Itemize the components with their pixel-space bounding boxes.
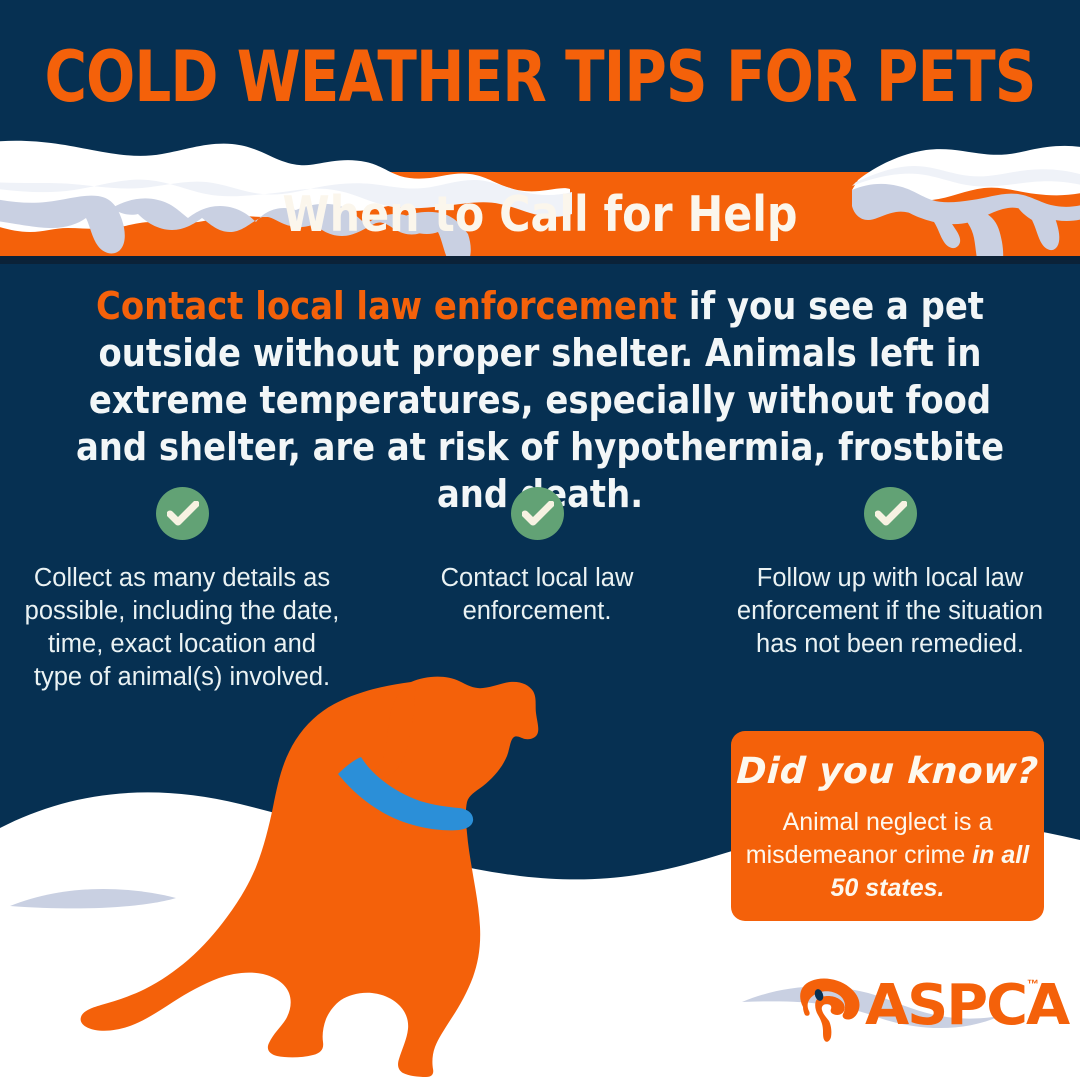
did-you-know-card: Did you know? Animal neglect is a misdem…	[731, 731, 1044, 921]
orange-sitting-dog-silhouette	[55, 655, 615, 1080]
step-text: Contact local law enforcement.	[382, 562, 692, 628]
aspca-shield-icon	[795, 977, 865, 1043]
checkmark-icon	[522, 501, 554, 527]
page-title: COLD WEATHER TIPS FOR PETS	[43, 36, 1037, 118]
did-you-know-title: Did you know?	[730, 751, 1045, 792]
check-circle-icon	[864, 487, 917, 540]
trademark-symbol: ™	[1027, 977, 1039, 991]
banner-underline	[0, 256, 1080, 264]
check-circle-icon	[156, 487, 209, 540]
step-column-3: Follow up with local law enforcement if …	[735, 487, 1045, 661]
did-you-know-text: Animal neglect is a misdemeanor crime	[746, 808, 993, 869]
did-you-know-body: Animal neglect is a misdemeanor crime in…	[731, 806, 1044, 905]
intro-paragraph: Contact local law enforcement if you see…	[65, 283, 1015, 518]
checkmark-icon	[167, 501, 199, 527]
checkmark-icon	[875, 501, 907, 527]
banner-title: When to Call for Help	[16, 176, 1064, 252]
intro-highlight: Contact local law enforcement	[96, 284, 677, 328]
infographic-poster: COLD WEATHER TIPS FOR PETS When to Call …	[0, 0, 1080, 1080]
step-column-1: Collect as many details as possible, inc…	[22, 487, 342, 694]
step-text: Follow up with local law enforcement if …	[735, 562, 1045, 661]
step-column-2: Contact local law enforcement.	[382, 487, 692, 628]
step-text: Collect as many details as possible, inc…	[22, 562, 342, 694]
aspca-logo: ASPCA ™	[795, 975, 1045, 1045]
check-circle-icon	[511, 487, 564, 540]
